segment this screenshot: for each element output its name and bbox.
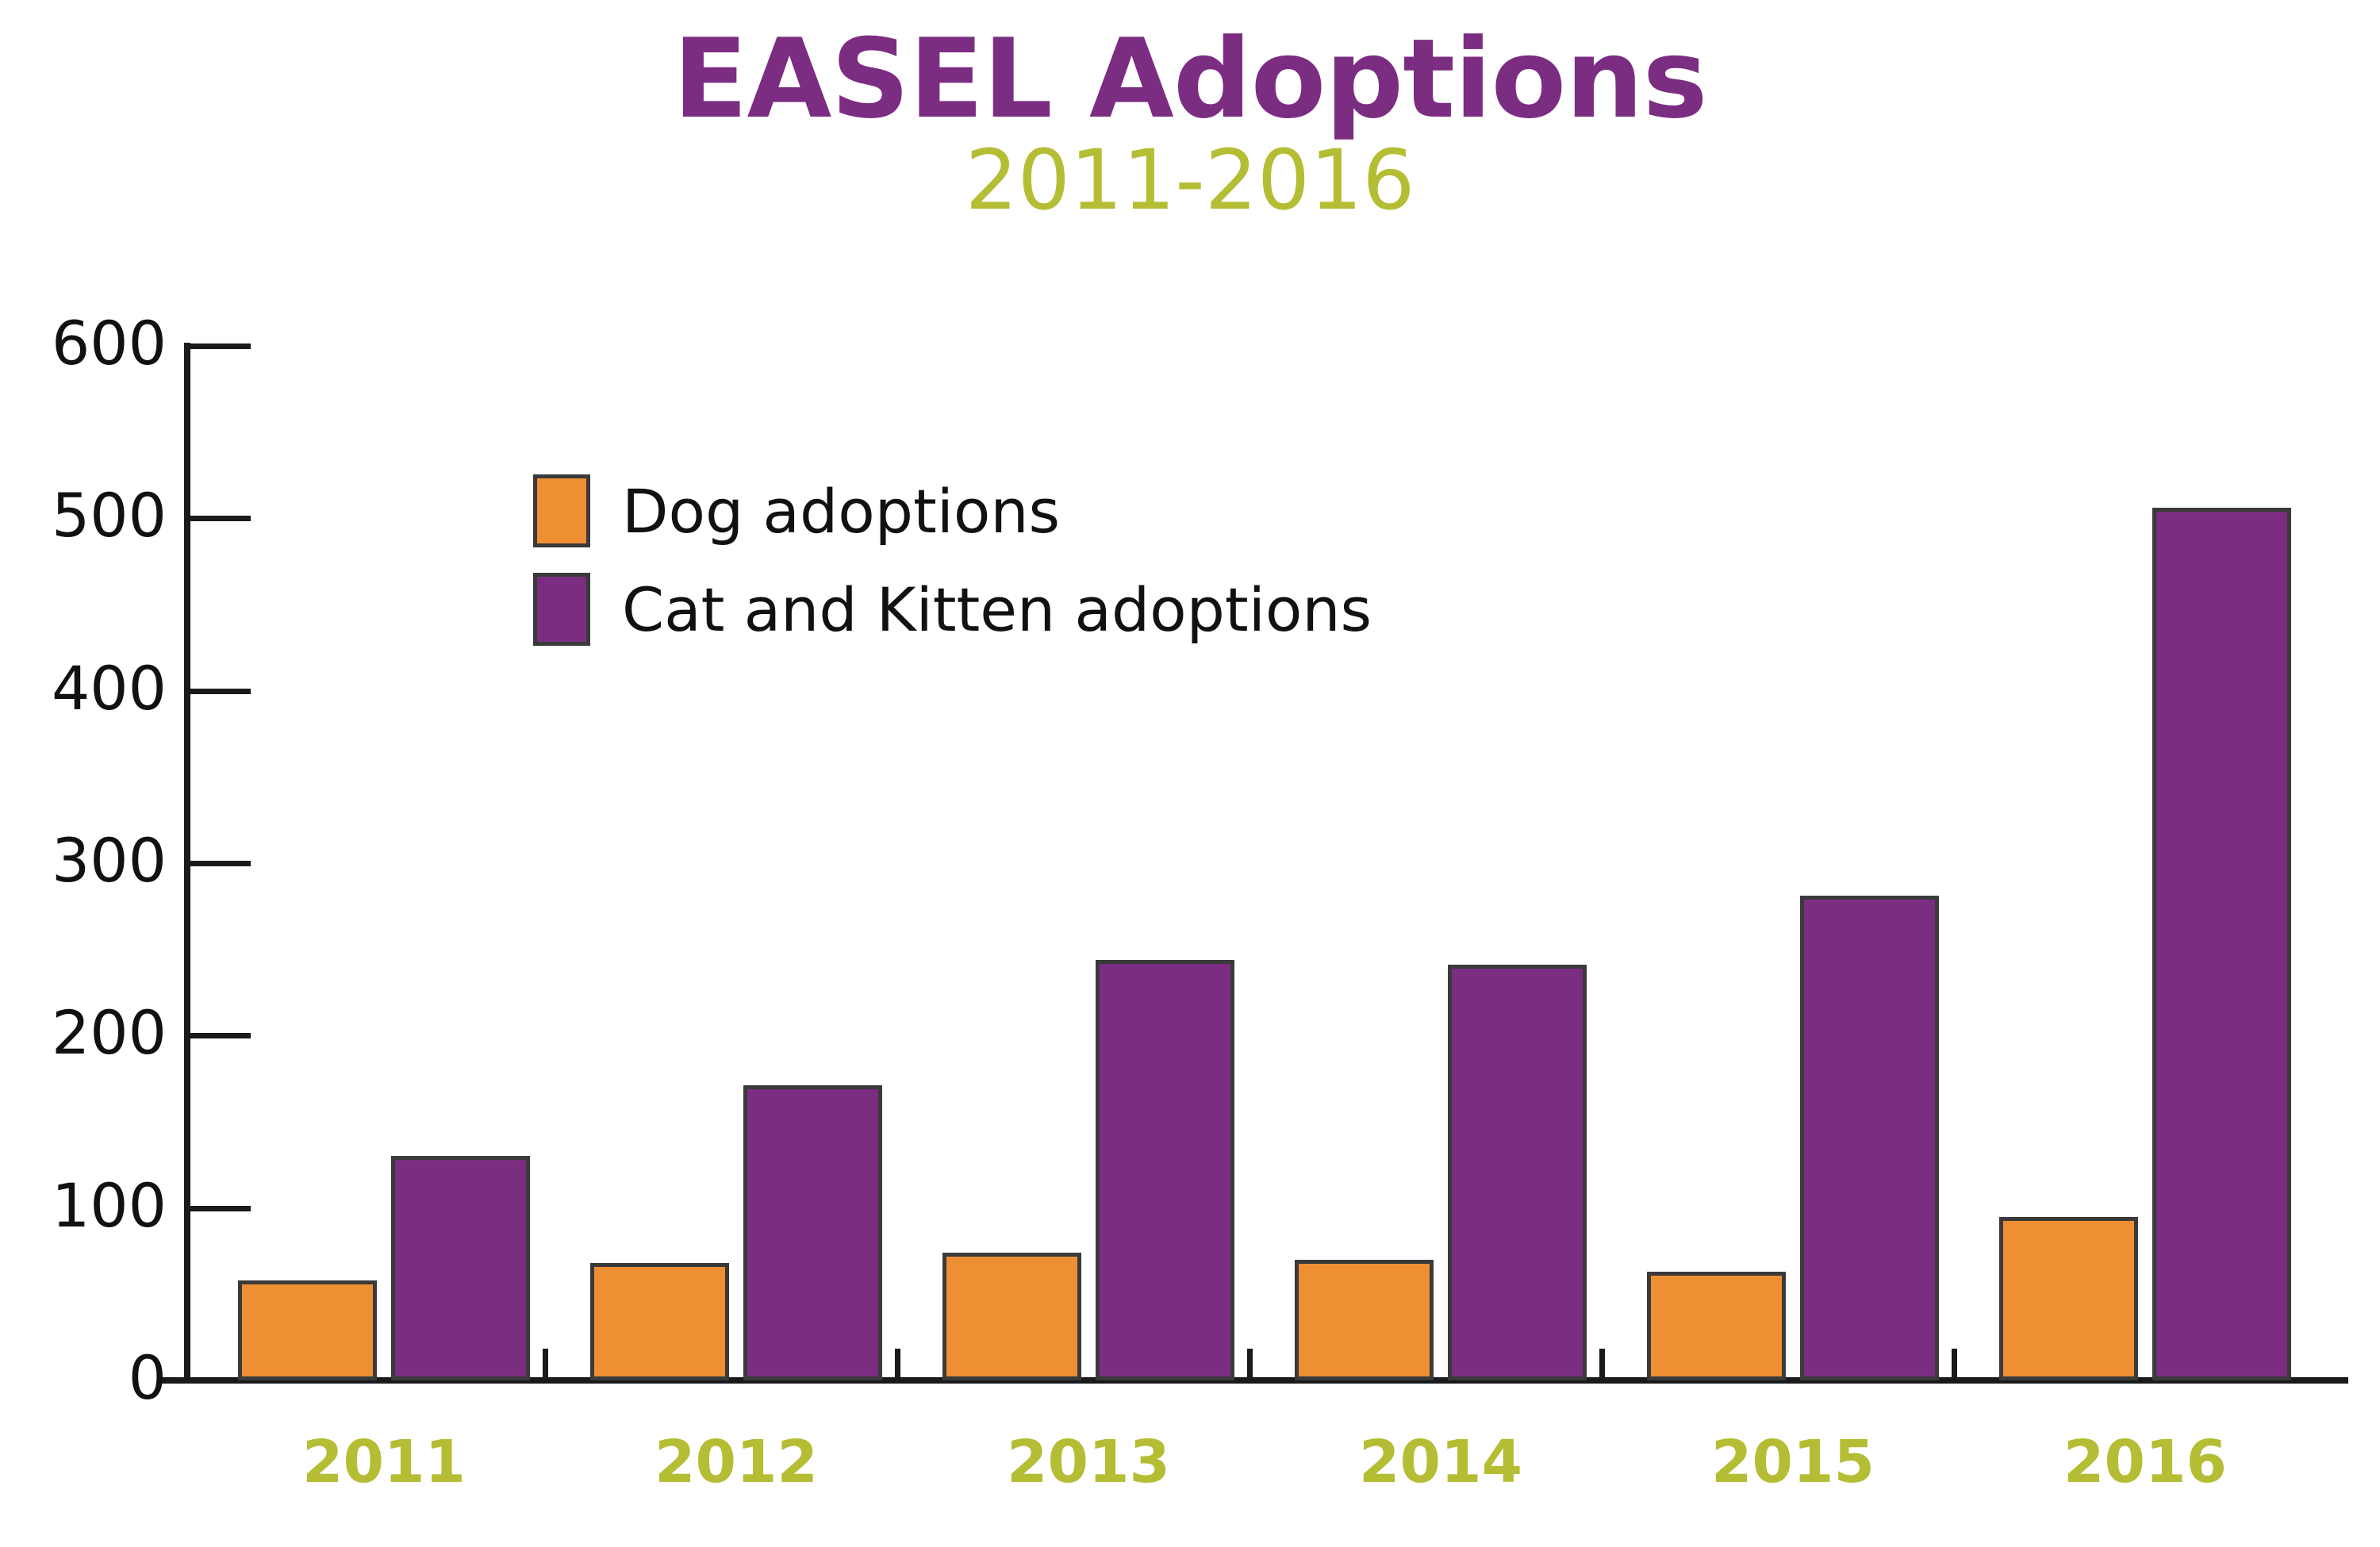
y-tick-mark bbox=[184, 344, 251, 349]
x-tick-mark bbox=[1599, 1349, 1605, 1380]
legend-swatch-icon-dog bbox=[533, 474, 590, 547]
x-tick-label-2016: 2016 bbox=[1952, 1428, 2339, 1496]
bar-dog-2011[interactable] bbox=[238, 1280, 377, 1380]
y-tick-mark bbox=[184, 689, 251, 694]
legend-item-dog[interactable]: Dog adoptions bbox=[533, 462, 1372, 560]
bar-dog-2015[interactable] bbox=[1647, 1272, 1786, 1380]
bar-cat-2013[interactable] bbox=[1096, 960, 1234, 1380]
x-tick-mark bbox=[1952, 1349, 1957, 1380]
bar-dog-2014[interactable] bbox=[1295, 1260, 1434, 1380]
x-tick-mark bbox=[895, 1349, 900, 1380]
legend-label-dog: Dog adoptions bbox=[622, 476, 1060, 547]
x-tick-label-2014: 2014 bbox=[1247, 1428, 1634, 1496]
bar-cat-2016[interactable] bbox=[2152, 508, 2291, 1380]
bar-dog-2012[interactable] bbox=[590, 1263, 729, 1380]
y-tick-label: 100 bbox=[32, 1170, 167, 1241]
bar-cat-2012[interactable] bbox=[743, 1085, 882, 1380]
y-tick-mark bbox=[184, 1206, 251, 1211]
y-tick-label: 600 bbox=[32, 308, 167, 378]
y-tick-mark bbox=[184, 516, 251, 521]
y-tick-mark bbox=[184, 1033, 251, 1038]
y-tick-label: 0 bbox=[32, 1342, 167, 1413]
y-tick-label: 200 bbox=[32, 997, 167, 1068]
x-tick-mark bbox=[543, 1349, 548, 1380]
x-tick-label-2015: 2015 bbox=[1599, 1428, 1987, 1496]
legend-item-cat[interactable]: Cat and Kitten adoptions bbox=[533, 560, 1372, 658]
bar-cat-2011[interactable] bbox=[391, 1156, 530, 1380]
bar-cat-2014[interactable] bbox=[1448, 965, 1587, 1380]
bar-dog-2016[interactable] bbox=[1999, 1217, 2138, 1380]
y-tick-label: 500 bbox=[32, 480, 167, 551]
x-tick-label-2011: 2011 bbox=[190, 1428, 578, 1496]
bar-cat-2015[interactable] bbox=[1800, 896, 1939, 1380]
x-tick-label-2012: 2012 bbox=[543, 1428, 930, 1496]
y-tick-label: 400 bbox=[32, 653, 167, 724]
legend-swatch-icon-cat bbox=[533, 573, 590, 646]
bar-dog-2013[interactable] bbox=[942, 1253, 1081, 1380]
y-tick-mark bbox=[184, 861, 251, 866]
x-tick-mark bbox=[1247, 1349, 1253, 1380]
x-tick-label-2013: 2013 bbox=[895, 1428, 1282, 1496]
legend-label-cat: Cat and Kitten adoptions bbox=[622, 574, 1372, 645]
y-tick-label: 300 bbox=[32, 825, 167, 896]
bar-chart: 6005004003002001000 20112012201320142015… bbox=[0, 0, 2380, 1547]
chart-legend: Dog adoptions Cat and Kitten adoptions bbox=[533, 462, 1372, 658]
